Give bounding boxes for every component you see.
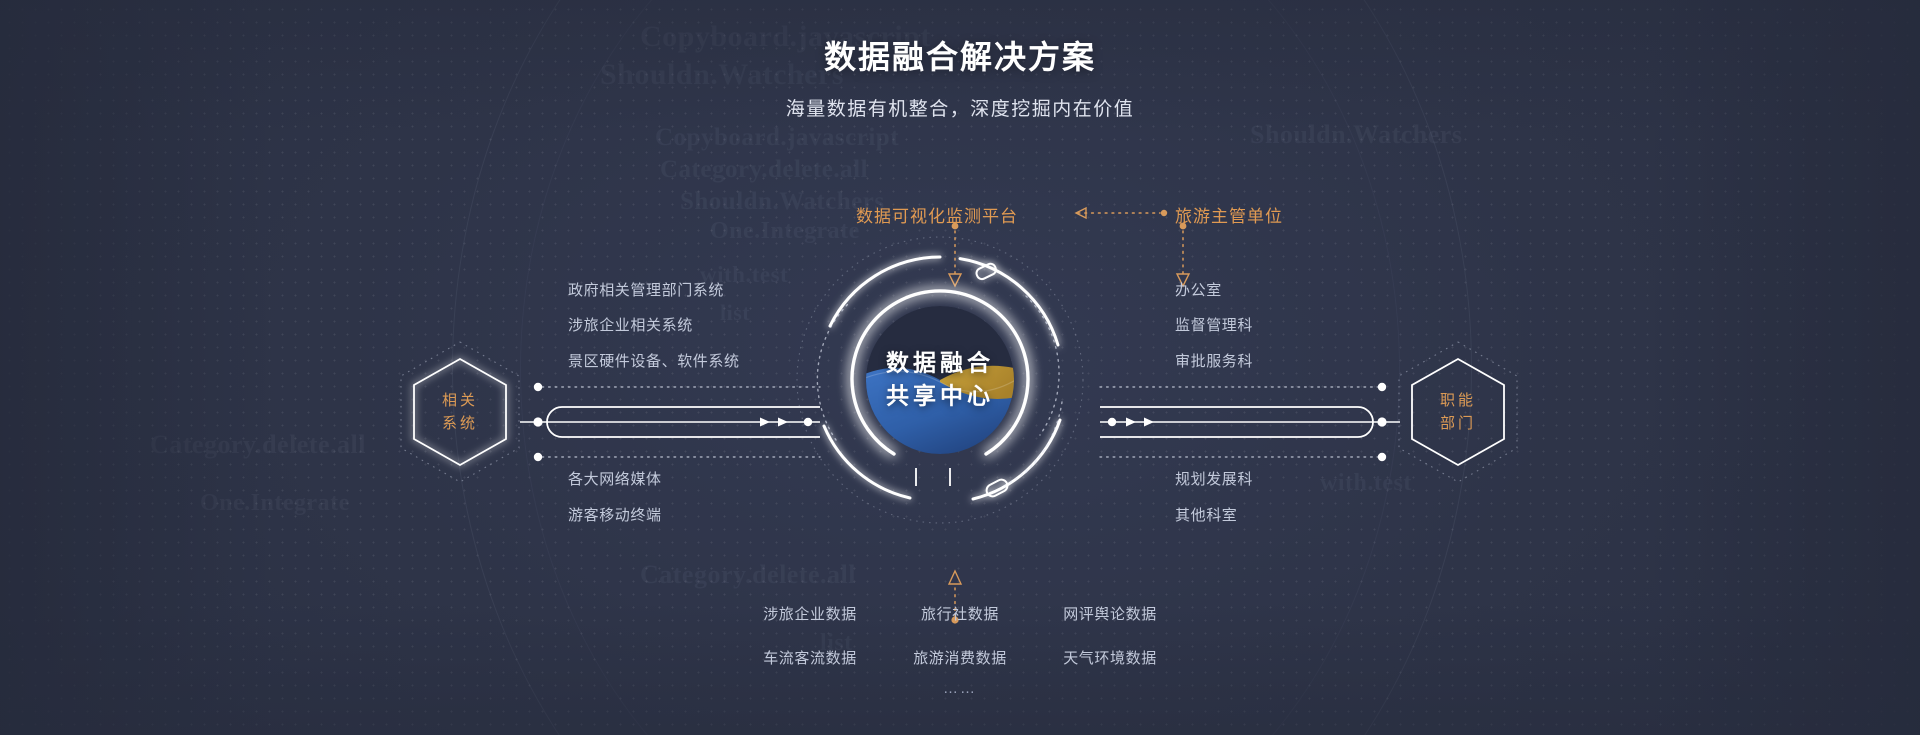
badge-functional-departments[interactable]: 职能 部门 [1408,356,1508,468]
label-tourism-authority[interactable]: 旅游主管单位 [1175,202,1283,227]
page-subtitle: 海量数据有机整合，深度挖掘内在价值 [0,94,1920,121]
badge-left-line2: 系统 [442,415,478,432]
header: 数据融合解决方案 海量数据有机整合，深度挖掘内在价值 [0,32,1920,121]
label-visualization-platform[interactable]: 数据可视化监测平台 [856,202,1018,227]
label-left-upper-2[interactable]: 景区硬件设备、软件系统 [568,350,740,371]
label-bottom-0[interactable]: 涉旅企业数据 [735,603,885,624]
label-bottom-4[interactable]: 旅游消费数据 [885,647,1035,668]
bottom-data-grid: 涉旅企业数据 旅行社数据 网评舆论数据 车流客流数据 旅游消费数据 天气环境数据… [735,603,1185,697]
label-left-lower-1[interactable]: 游客移动终端 [568,504,662,525]
badge-related-systems[interactable]: 相关 系统 [410,356,510,468]
right-connector-bus [1040,372,1400,472]
badge-left-line1: 相关 [442,392,478,409]
label-right-lower-1[interactable]: 其他科室 [1175,504,1237,525]
badge-right-line2: 部门 [1440,415,1476,432]
label-bottom-5[interactable]: 天气环境数据 [1035,647,1185,668]
top-horizontal-connector [1060,202,1170,224]
label-bottom-2[interactable]: 网评舆论数据 [1035,603,1185,624]
label-bottom-1[interactable]: 旅行社数据 [885,603,1035,624]
core-label: 数据融合 共享中心 [790,230,1090,530]
label-right-upper-2[interactable]: 审批服务科 [1175,350,1253,371]
label-left-upper-0[interactable]: 政府相关管理部门系统 [568,279,724,300]
badge-right-line1: 职能 [1440,392,1476,409]
label-left-lower-0[interactable]: 各大网络媒体 [568,468,662,489]
label-left-upper-1[interactable]: 涉旅企业相关系统 [568,314,693,335]
label-right-upper-1[interactable]: 监督管理科 [1175,314,1253,335]
label-bottom-3[interactable]: 车流客流数据 [735,647,885,668]
core-label-line2: 共享中心 [790,380,1090,413]
core-label-line1: 数据融合 [790,347,1090,380]
label-bottom-ellipsis: …… [735,680,1185,697]
infographic-stage: Copyboard.javascript Shouldn.Watchers Co… [0,0,1920,735]
label-right-upper-0[interactable]: 办公室 [1175,279,1222,300]
label-right-lower-0[interactable]: 规划发展科 [1175,468,1253,489]
page-title: 数据融合解决方案 [0,32,1920,78]
